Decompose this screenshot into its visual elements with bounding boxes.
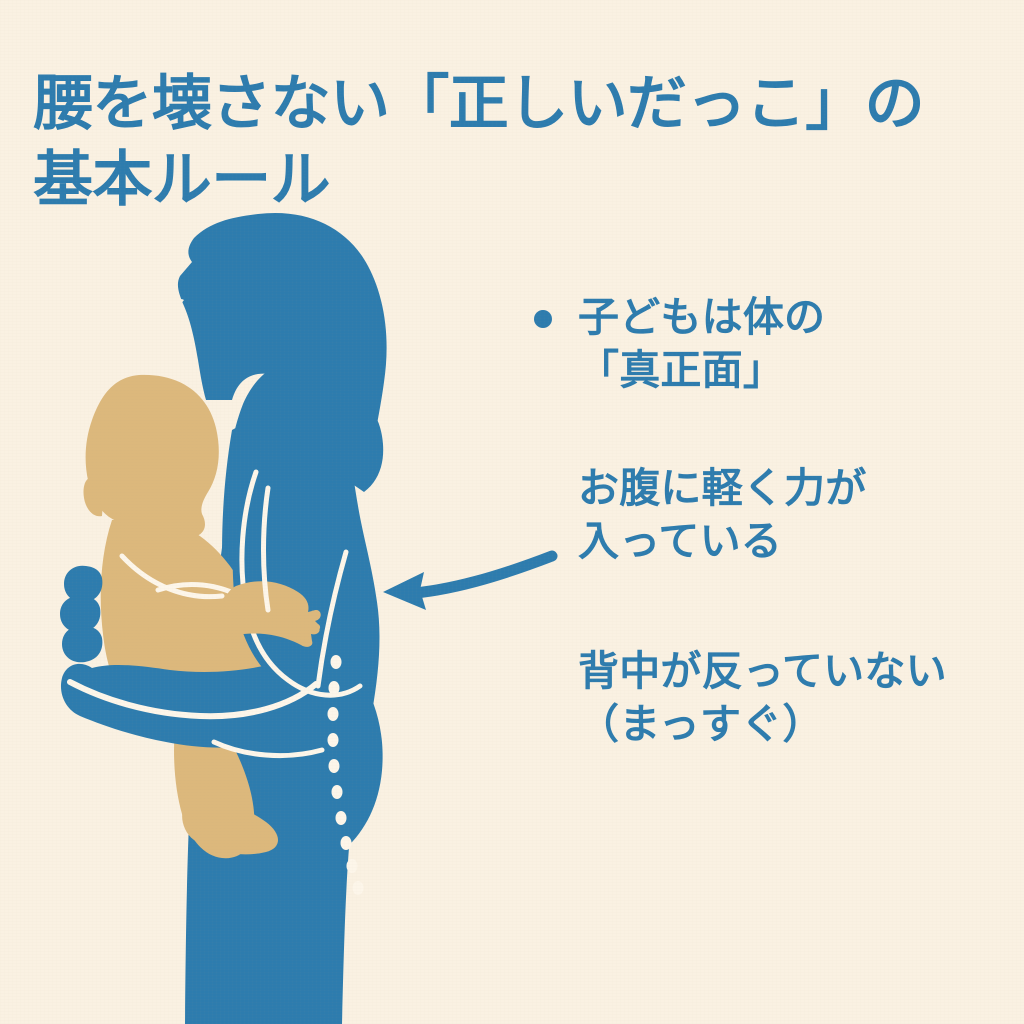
adult-hand-fingers (60, 566, 102, 663)
pointer-arrow-head (383, 572, 426, 610)
note-light-core-engagement: お腹に軽く力が 入っている (578, 462, 866, 569)
infographic-poster: 腰を壊さない「正しいだっこ」の 基本ルール 子どもは体の 「真正面」 お腹に軽く… (0, 0, 1024, 1024)
pointer-arrow-shaft (404, 556, 552, 594)
page-title: 腰を壊さない「正しいだっこ」の 基本ルール (33, 66, 933, 218)
baby-ear (83, 478, 104, 517)
note-back-not-arched: 背中が反っていない （まっすぐ） (578, 645, 947, 752)
bullet-point-marker (534, 310, 552, 328)
baby-head (86, 375, 219, 538)
note-child-front-of-body: 子どもは体の 「真正面」 (578, 291, 825, 398)
